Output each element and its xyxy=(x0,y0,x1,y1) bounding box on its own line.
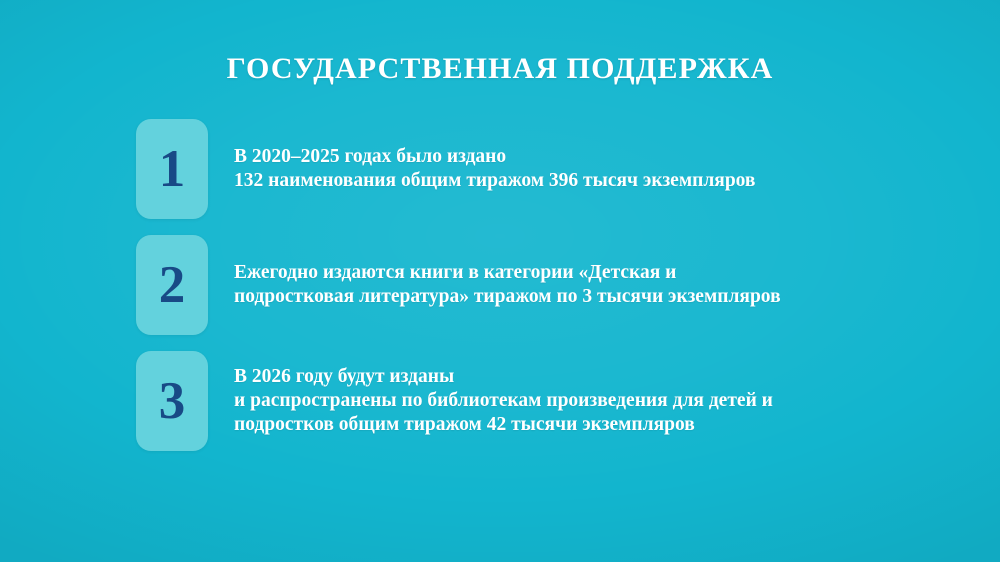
bullet-text-2-line-2: подростковая литература» тиражом по 3 ты… xyxy=(234,285,781,309)
bullet-text-2: Ежегодно издаются книги в категории «Дет… xyxy=(234,235,781,309)
bullet-text-3: В 2026 году будут изданы и распространен… xyxy=(234,351,773,437)
presentation-slide: ГОСУДАРСТВЕННАЯ ПОДДЕРЖКА 1 В 2020–2025 … xyxy=(0,0,1000,562)
bullet-text-1: В 2020–2025 годах было издано 132 наимен… xyxy=(234,119,755,193)
number-tile-1: 1 xyxy=(136,119,208,219)
number-tile-2: 2 xyxy=(136,235,208,335)
bullet-list: 1 В 2020–2025 годах было издано 132 наим… xyxy=(136,119,781,467)
number-label-2: 2 xyxy=(159,259,186,312)
number-tile-3: 3 xyxy=(136,351,208,451)
bullet-text-3-line-2: и распространены по библиотекам произвед… xyxy=(234,389,773,413)
slide-title: ГОСУДАРСТВЕННАЯ ПОДДЕРЖКА xyxy=(0,52,1000,86)
number-label-3: 3 xyxy=(159,375,186,428)
bullet-text-1-line-1: В 2020–2025 годах было издано xyxy=(234,145,755,169)
bullet-item-3: 3 В 2026 году будут изданы и распростран… xyxy=(136,351,781,451)
bullet-text-3-line-3: подростков общим тиражом 42 тысячи экзем… xyxy=(234,413,773,437)
bullet-text-1-line-2: 132 наименования общим тиражом 396 тысяч… xyxy=(234,169,755,193)
bullet-text-2-line-1: Ежегодно издаются книги в категории «Дет… xyxy=(234,261,781,285)
bullet-item-1: 1 В 2020–2025 годах было издано 132 наим… xyxy=(136,119,781,219)
bullet-text-3-line-1: В 2026 году будут изданы xyxy=(234,365,773,389)
bullet-item-2: 2 Ежегодно издаются книги в категории «Д… xyxy=(136,235,781,335)
number-label-1: 1 xyxy=(159,143,186,196)
